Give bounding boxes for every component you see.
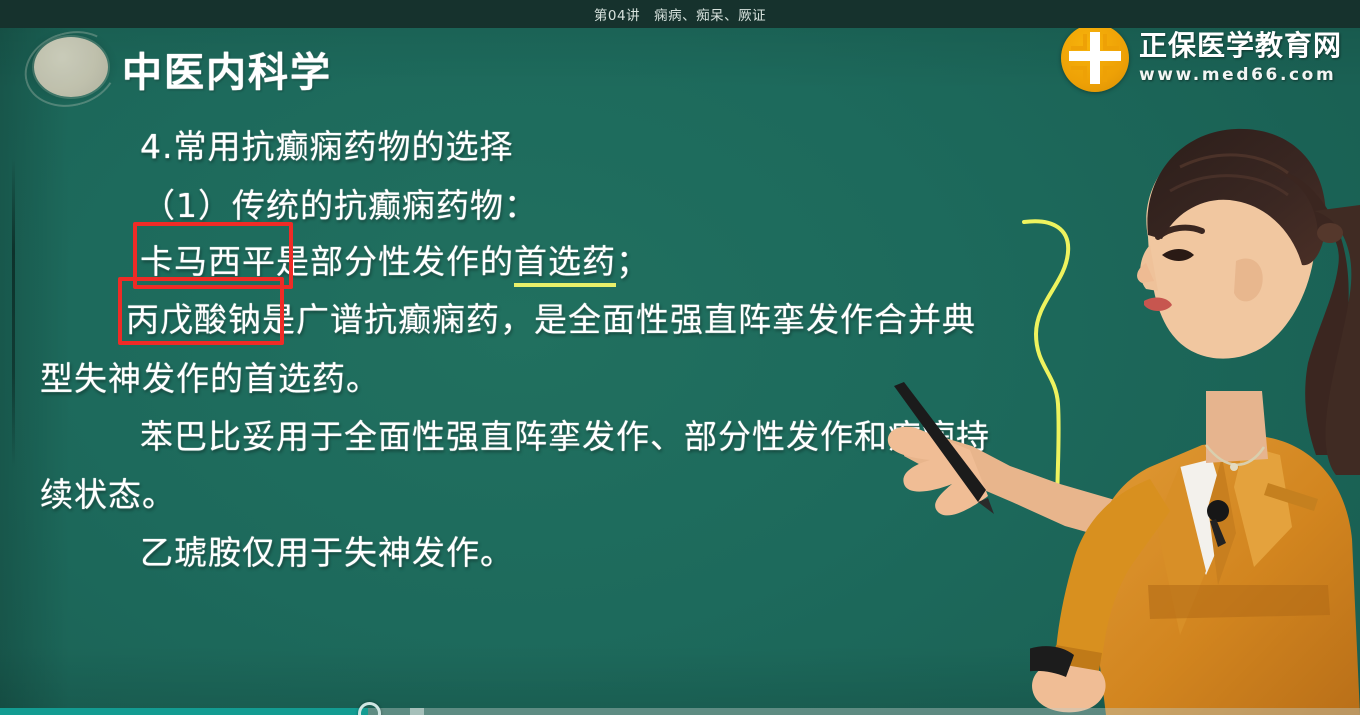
slide-line-valproate: 丙戊酸钠是广谱抗癫痫药，是全面性强直阵挛发作合并典 [126, 293, 976, 341]
slide-line-carbamazepine-mid: 是部分性发作的 [276, 242, 514, 281]
underlined-term-first-choice: 首选药 [514, 242, 616, 287]
brand-name: 正保医学教育网 [1139, 32, 1342, 60]
slide-line-carbamazepine-end: ； [616, 242, 650, 281]
slide-line-carbamazepine: 卡马西平是部分性发作的首选药； [140, 235, 650, 283]
slide-line-phenobarbital-cont: 续状态。 [40, 468, 176, 516]
brand-text: 正保医学教育网 www.med66.com [1139, 32, 1342, 84]
circle-stamp-icon [34, 37, 108, 97]
brand-url: www.med66.com [1139, 67, 1342, 84]
lecture-video-frame: 第04讲 痫病、痴呆、厥证 中医内科学 正保医学教育网 www.med66.co… [0, 0, 1360, 715]
boxed-term-carbamazepine: 卡马西平 [140, 242, 276, 281]
med66-cross-logo-icon [1061, 24, 1129, 92]
brand-logo[interactable]: 正保医学教育网 www.med66.com [1061, 22, 1342, 94]
board-seam [12, 158, 15, 468]
video-progress-bar[interactable] [0, 708, 1360, 715]
lecture-title-bar: 第04讲 痫病、痴呆、厥证 [0, 0, 1360, 28]
slide-line-ethosuximide: 乙琥胺仅用于失神发作。 [140, 526, 514, 574]
video-progress-fill [0, 708, 368, 715]
lecture-title-label: 第04讲 痫病、痴呆、厥证 [594, 4, 766, 24]
boxed-term-valproate: 丙戊酸钠 [126, 300, 262, 339]
slide-line-valproate-rest: 是广谱抗癫痫药，是全面性强直阵挛发作合并典 [262, 300, 976, 339]
slide-line-valproate-cont: 型失神发作的首选药。 [40, 352, 380, 400]
slide-line-phenobarbital: 苯巴比妥用于全面性强直阵挛发作、部分性发作和癫痫持 [140, 410, 990, 458]
course-title: 中医内科学 [122, 40, 332, 98]
video-progress-buffer [410, 708, 424, 715]
slide-subheading: （1）传统的抗癫痫药物： [142, 179, 538, 227]
slide-heading: 4.常用抗癫痫药物的选择 [140, 120, 514, 168]
